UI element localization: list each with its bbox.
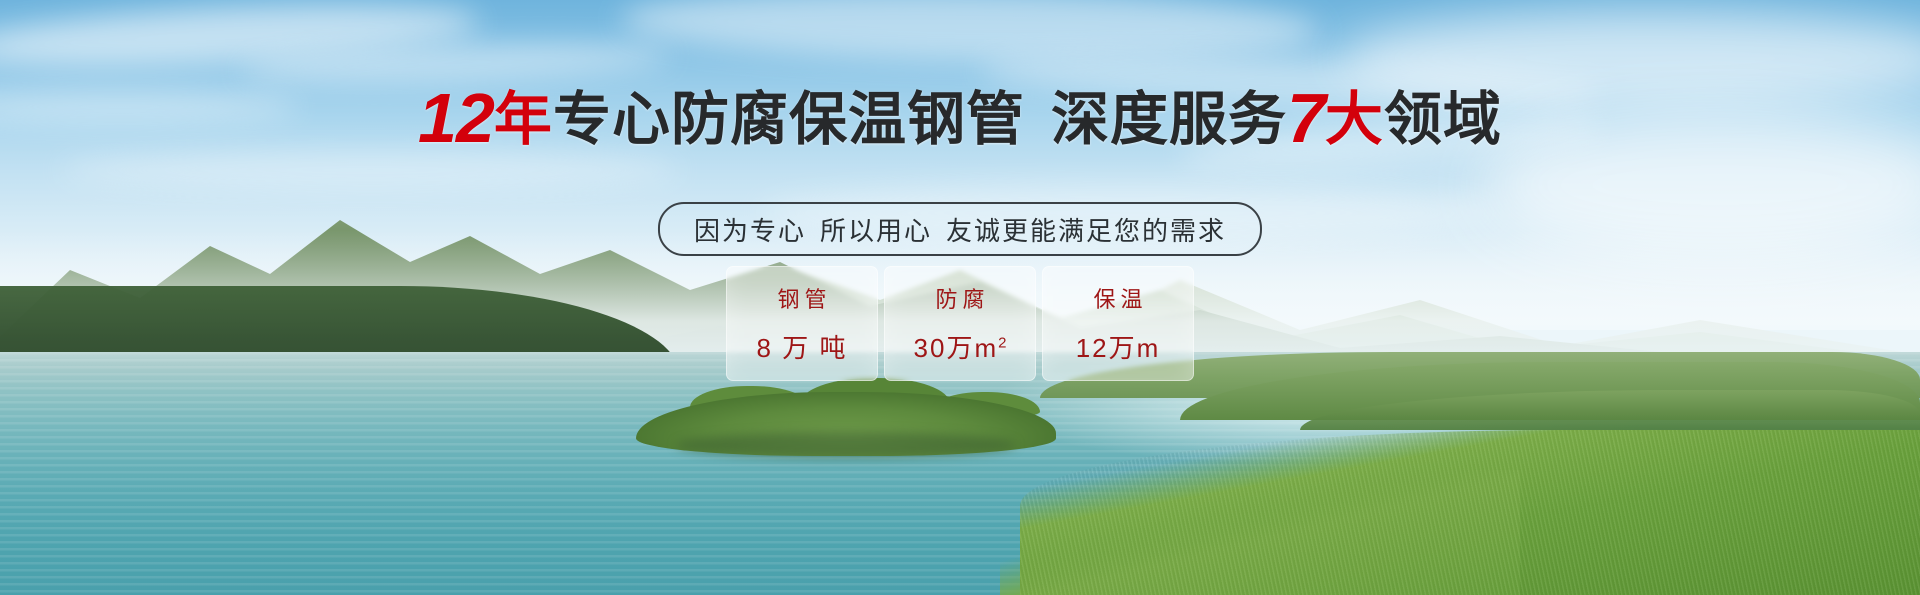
headline-segment-two: 深度服务 [1051, 87, 1287, 152]
stat-card-steel-pipe[interactable]: 钢管 8 万 吨 [726, 266, 878, 381]
stat-card-label: 保温 [1088, 282, 1147, 314]
stat-card-value: 12万m [1076, 328, 1161, 365]
stat-card-label: 防腐 [930, 282, 989, 314]
subtitle-part-one: 因为专心 [694, 211, 806, 248]
subtitle-part-three: 友诚更能满足您的需求 [946, 211, 1226, 248]
headline-years-unit: 年 [494, 87, 553, 152]
stat-card-value: 30万m2 [914, 328, 1007, 365]
stat-card-anticorrosion[interactable]: 防腐 30万m2 [884, 266, 1036, 381]
banner-subtitle-pill: 因为专心所以用心友诚更能满足您的需求 [658, 202, 1262, 256]
banner-headline: 12年专心防腐保温钢管深度服务7大领域 [0, 83, 1920, 153]
headline-years-number: 12 [418, 79, 494, 157]
headline-fields-number: 7 [1287, 79, 1325, 157]
hero-banner: 12年专心防腐保温钢管深度服务7大领域 因为专心所以用心友诚更能满足您的需求 钢… [0, 0, 1920, 595]
subtitle-part-two: 所以用心 [820, 211, 932, 248]
headline-fields-unit: 大 [1325, 87, 1384, 152]
stat-card-value-superscript: 2 [998, 334, 1006, 351]
stat-card-group: 钢管 8 万 吨 防腐 30万m2 保温 12万m [726, 266, 1194, 381]
headline-segment-three: 领域 [1384, 87, 1502, 152]
stat-card-insulation[interactable]: 保温 12万m [1042, 266, 1194, 381]
stat-card-value-text: 12万m [1076, 333, 1161, 363]
stat-card-value-text: 30万m [914, 333, 999, 363]
stat-card-value-text: 8 万 吨 [757, 333, 848, 363]
stat-card-label: 钢管 [772, 282, 831, 314]
headline-segment-one: 专心防腐保温钢管 [553, 87, 1025, 152]
stat-card-value: 8 万 吨 [757, 328, 848, 365]
